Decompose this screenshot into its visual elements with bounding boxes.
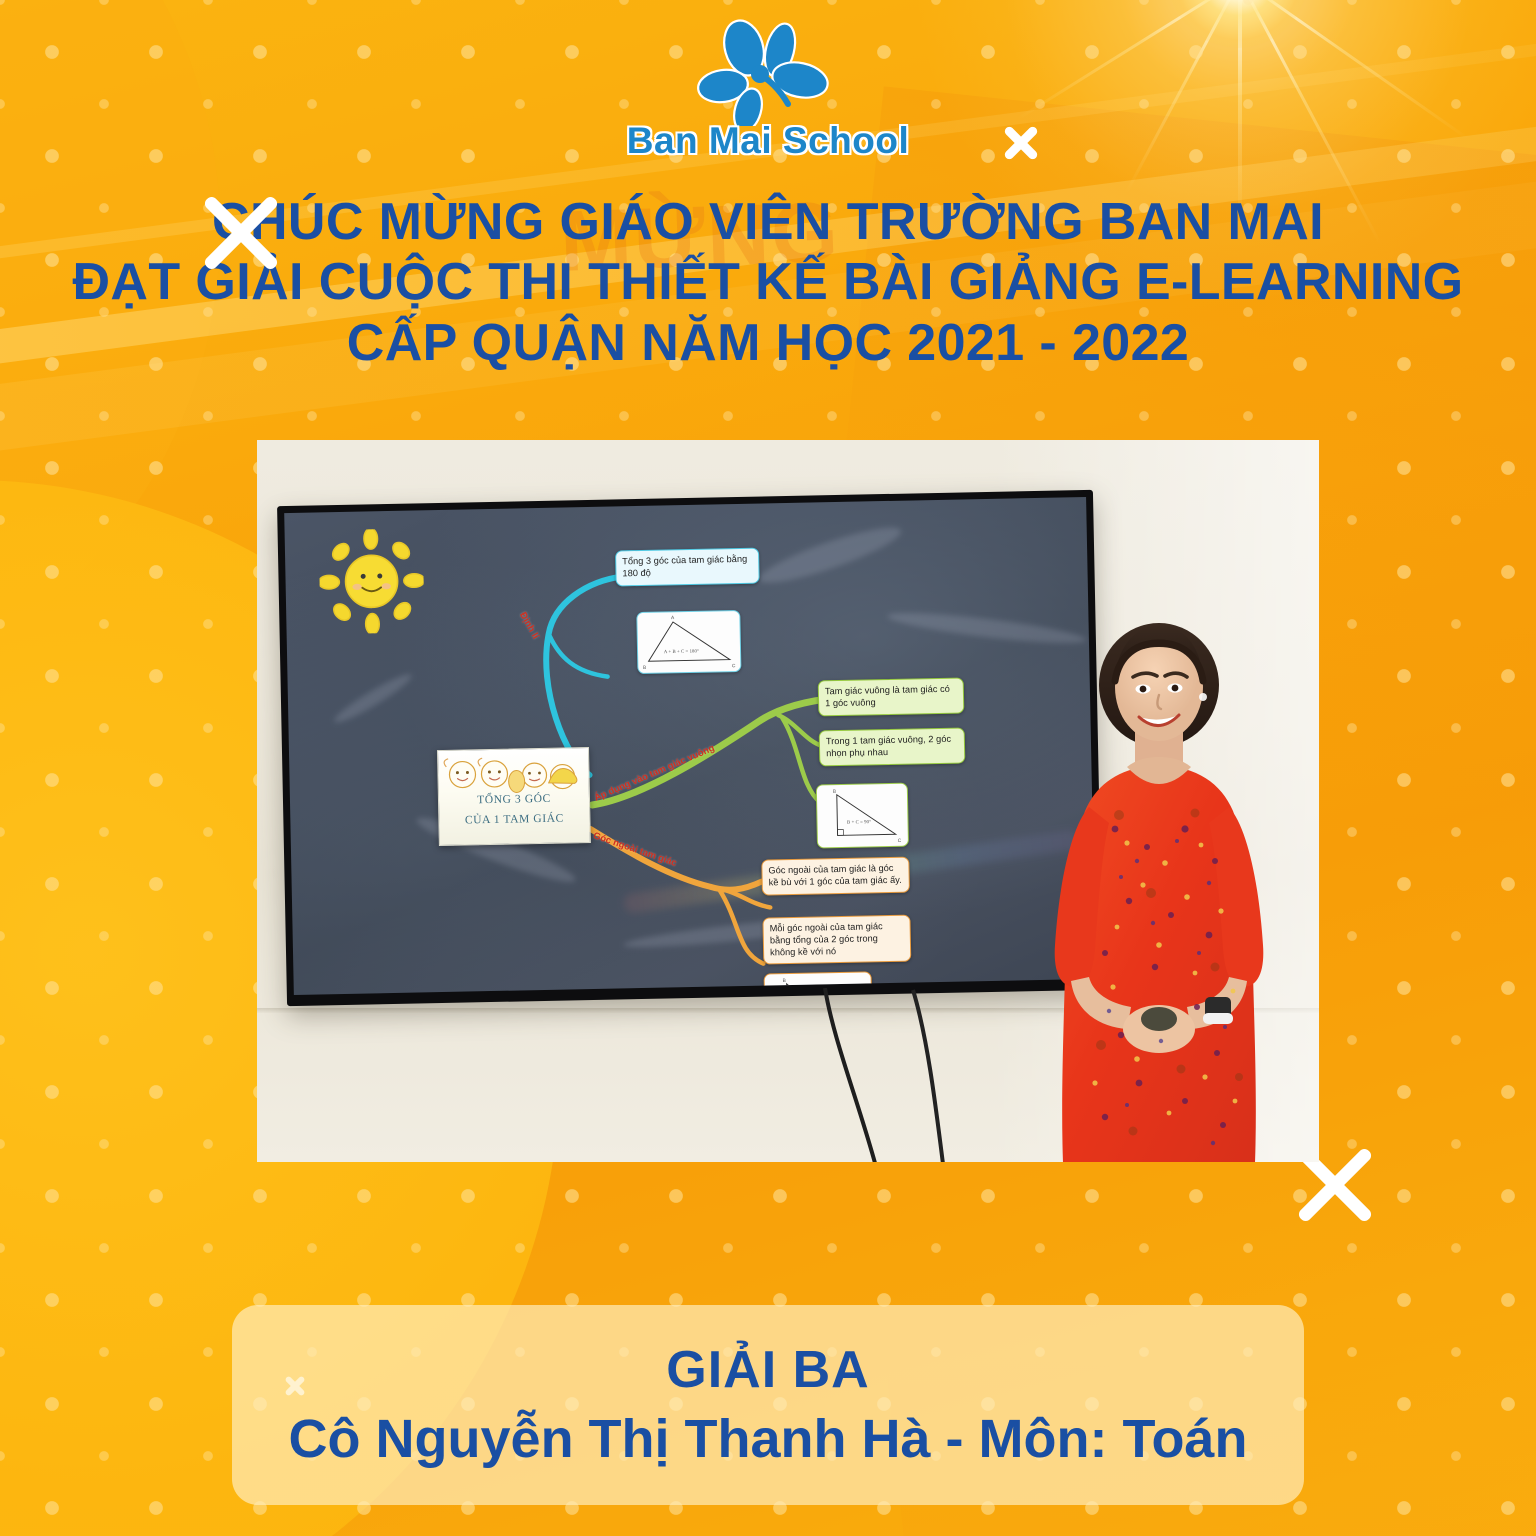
svg-text:C: C [898,838,902,844]
mindmap-node: Tam giác vuông là tam giác có 1 góc vuôn… [818,677,965,715]
brand-name: Ban Mai School [627,120,909,162]
triangle-figure-1: A + B + C = 180° B C A [637,611,740,673]
x-decoration-icon [1000,122,1042,164]
mindmap-node-figure: B + C = 90° B C [816,783,909,849]
svg-text:B: B [783,978,786,984]
svg-text:B + C = 90°: B + C = 90° [847,820,871,825]
svg-text:A + B + C = 180°: A + B + C = 180° [664,649,699,655]
wall-mounted-tv: Định lí Áp dụng vào tam giác vuông Góc n… [277,490,1103,1006]
mindmap-node: Trong 1 tam giác vuông, 2 góc nhọn phụ n… [819,727,966,765]
event-photo: Định lí Áp dụng vào tam giác vuông Góc n… [257,440,1319,1162]
mindmap-center-title: TỔNG 3 GÓC CỦA 1 TAM GIÁC [439,788,590,831]
svg-text:B: B [833,789,836,795]
mindmap-node: Góc ngoài của tam giác là góc kề bù với … [761,857,910,895]
tv-screen: Định lí Áp dụng vào tam giác vuông Góc n… [284,497,1096,995]
title-line-3: CẤP QUẬN NĂM HỌC 2021 - 2022 [0,313,1536,373]
svg-text:A: A [671,615,675,621]
teacher-photo-subject [1009,615,1309,1162]
mindmap-node: Tổng 3 góc của tam giác bằng 180 độ [615,548,760,586]
award-banner: GIẢI BA Cô Nguyễn Thị Thanh Hà - Môn: To… [232,1305,1304,1505]
svg-text:C: C [732,663,736,669]
ban-mai-flower-logo-icon [688,18,848,126]
awardee-name: Cô Nguyễn Thị Thanh Hà - Môn: Toán [289,1408,1248,1470]
triangle-figure-2: B + C = 90° B C [817,784,908,848]
mindmap-center-node: TỔNG 3 GÓC CỦA 1 TAM GIÁC [437,747,591,846]
mindmap-node-figure: A + B + C = 180° B C A [636,610,741,674]
mindmap-node: Mỗi góc ngoài của tam giác bằng tổng của… [762,915,911,965]
brand-logo: Ban Mai School [0,18,1536,162]
svg-text:B: B [643,665,646,671]
x-decoration-icon [193,185,289,281]
center-line-2: CỦA 1 TAM GIÁC [439,808,589,831]
prize-label: GIẢI BA [666,1340,869,1400]
